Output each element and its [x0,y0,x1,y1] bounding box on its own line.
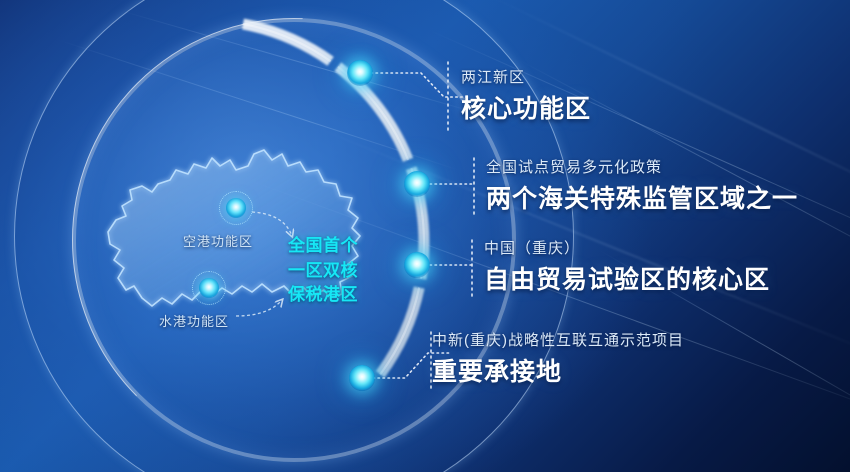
callout-free-trade-zone-core[interactable]: 中国（重庆） 自由贸易试验区的核心区 [484,237,770,296]
callout-4-title: 重要承接地 [432,352,684,388]
arc-node-4[interactable] [349,365,375,391]
map-highlight-text: 全国首个 一区双核 保税港区 [288,234,358,308]
map-highlight-line-3: 保税港区 [288,283,358,308]
callout-core-function-zone[interactable]: 两江新区 核心功能区 [461,66,591,125]
callout-ccI-demonstration-project[interactable]: 中新(重庆)战略性互联互通示范项目 重要承接地 [432,329,684,388]
callout-1-title: 核心功能区 [461,89,591,125]
airport-zone-dot[interactable] [226,198,246,218]
arc-node-2[interactable] [404,171,430,197]
callout-3-subtitle: 中国（重庆） [484,237,770,258]
infographic-canvas: 空港功能区 水港功能区 全国首个 一区双核 保税港区 两江新区 核心功能区 全国… [0,0,850,472]
callout-2-subtitle: 全国试点贸易多元化政策 [486,156,798,177]
map-highlight-line-1: 全国首个 [288,234,358,259]
waterport-zone-label: 水港功能区 [159,311,229,330]
airport-zone-label: 空港功能区 [183,231,253,250]
callout-2-title: 两个海关特殊监管区域之一 [486,179,798,215]
callout-customs-special-zone[interactable]: 全国试点贸易多元化政策 两个海关特殊监管区域之一 [486,156,798,215]
waterport-zone-dot[interactable] [199,278,219,298]
arc-node-1[interactable] [347,60,373,86]
callout-1-subtitle: 两江新区 [461,66,591,87]
map-highlight-line-2: 一区双核 [288,259,358,284]
arc-node-3[interactable] [404,252,430,278]
callout-3-title: 自由贸易试验区的核心区 [484,260,770,296]
callout-4-subtitle: 中新(重庆)战略性互联互通示范项目 [432,329,684,350]
